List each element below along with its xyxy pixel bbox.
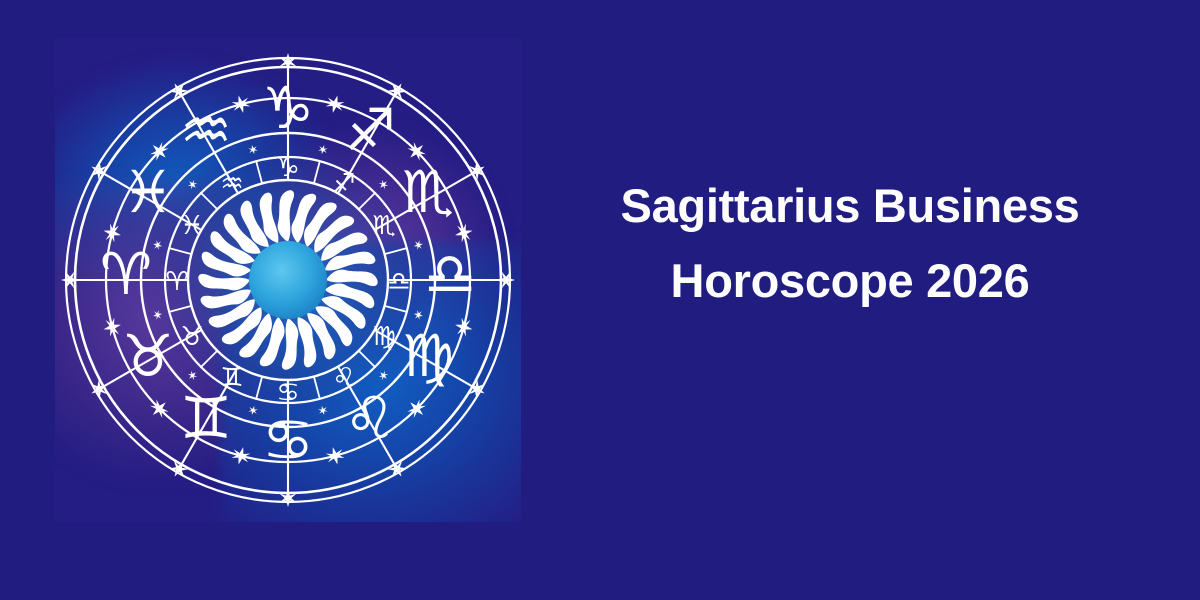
horoscope-banner: ♑ ♐ ♏ ♎ ♍ ♌ ♋ ♊ ♉ ♈ ♓ ♒ ♑ ♐ ♏ <box>0 0 1200 600</box>
sun-disc <box>249 241 327 319</box>
title-line-1: Sagittarius Business <box>621 168 1080 243</box>
title-line-2: Horoscope 2026 <box>671 243 1030 318</box>
figure-virgo: ♍ <box>402 322 454 390</box>
figure-libra: ♎ <box>424 240 476 308</box>
glyph-scorpio: ♏ <box>372 211 395 241</box>
zodiac-wheel-artwork: ♑ ♐ ♏ ♎ ♍ ♌ ♋ ♊ ♉ ♈ ♓ ♒ ♑ ♐ ♏ <box>55 38 521 522</box>
glyph-virgo: ♍ <box>372 322 395 352</box>
glyph-pisces: ♓ <box>180 211 203 241</box>
glyph-sagittarius: ♐ <box>332 169 355 199</box>
figure-aries: ♈ <box>100 240 152 308</box>
figure-capricorn: ♑ <box>262 74 314 142</box>
glyph-taurus: ♉ <box>180 322 203 352</box>
page-title: Sagittarius Business Horoscope 2026 <box>540 148 1160 338</box>
figure-pisces: ♓ <box>122 158 174 226</box>
figure-leo: ♌ <box>344 384 396 452</box>
figure-sagittarius: ♐ <box>344 96 396 164</box>
zodiac-wheel-svg: ♑ ♐ ♏ ♎ ♍ ♌ ♋ ♊ ♉ ♈ ♓ ♒ ♑ ♐ ♏ <box>55 38 521 522</box>
figure-scorpio: ♏ <box>402 158 454 226</box>
glyph-capricorn: ♑ <box>276 153 299 183</box>
glyph-aquarius: ♒ <box>220 169 243 199</box>
figure-aquarius: ♒ <box>180 96 232 164</box>
glyph-cancer: ♋ <box>276 378 299 408</box>
glyph-libra: ♎ <box>387 267 410 297</box>
figure-gemini: ♊ <box>180 384 232 452</box>
figure-cancer: ♋ <box>262 406 314 474</box>
glyph-aries: ♈ <box>165 267 188 297</box>
figure-taurus: ♉ <box>122 322 174 390</box>
